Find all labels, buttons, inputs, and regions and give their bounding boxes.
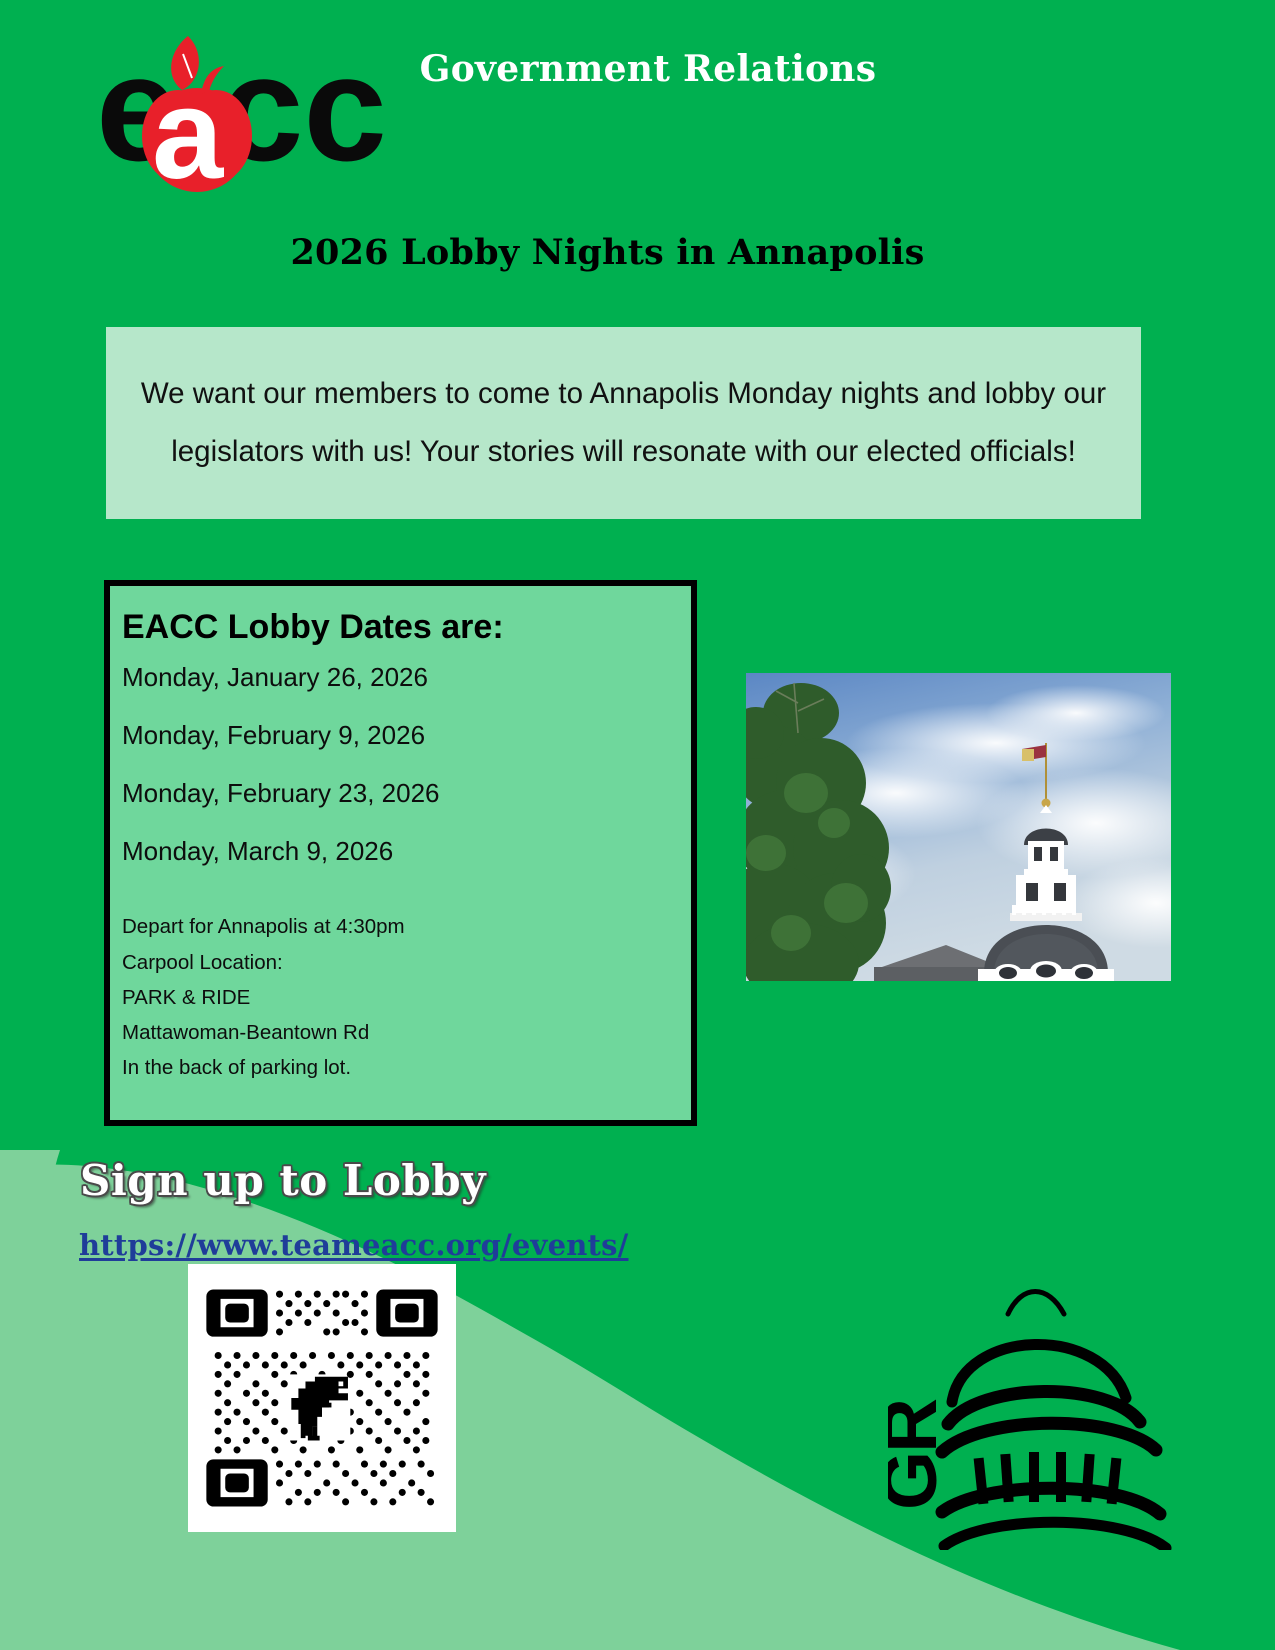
callout-text: We want our members to come to Annapolis… bbox=[128, 365, 1119, 480]
lobby-date-item: Monday, March 9, 2026 bbox=[122, 837, 691, 865]
carpool-line: PARK & RIDE bbox=[122, 980, 691, 1015]
carpool-line: In the back of parking lot. bbox=[122, 1050, 691, 1085]
gr-capitol-logo: GR bbox=[888, 1262, 1178, 1550]
flyer-page: e cc a Government Relations 2026 Lobby N… bbox=[0, 0, 1275, 1650]
svg-text:a: a bbox=[152, 63, 224, 193]
carpool-line: Mattawoman-Beantown Rd bbox=[122, 1015, 691, 1050]
svg-text:GR: GR bbox=[888, 1399, 953, 1510]
lobby-dates-title: EACC Lobby Dates are: bbox=[122, 608, 691, 647]
carpool-details: Depart for Annapolis at 4:30pm Carpool L… bbox=[122, 909, 691, 1085]
qr-code[interactable] bbox=[188, 1264, 456, 1532]
lobby-date-item: Monday, January 26, 2026 bbox=[122, 663, 691, 691]
page-headline: 2026 Lobby Nights in Annapolis bbox=[0, 232, 1215, 273]
signup-url-link[interactable]: https://www.teameacc.org/events/ bbox=[79, 1228, 628, 1262]
state-house-photo bbox=[746, 673, 1171, 981]
lobby-date-item: Monday, February 9, 2026 bbox=[122, 721, 691, 749]
header-title: Government Relations bbox=[408, 48, 888, 90]
carpool-line: Depart for Annapolis at 4:30pm bbox=[122, 909, 691, 944]
signup-heading: Sign up to Lobby bbox=[80, 1156, 486, 1205]
lobby-dates-box: EACC Lobby Dates are: Monday, January 26… bbox=[104, 580, 697, 1126]
dinosaur-icon bbox=[289, 1374, 350, 1440]
eacc-logo: e cc a bbox=[100, 28, 390, 193]
carpool-line: Carpool Location: bbox=[122, 945, 691, 980]
callout-box: We want our members to come to Annapolis… bbox=[106, 327, 1141, 519]
lobby-date-item: Monday, February 23, 2026 bbox=[122, 779, 691, 807]
